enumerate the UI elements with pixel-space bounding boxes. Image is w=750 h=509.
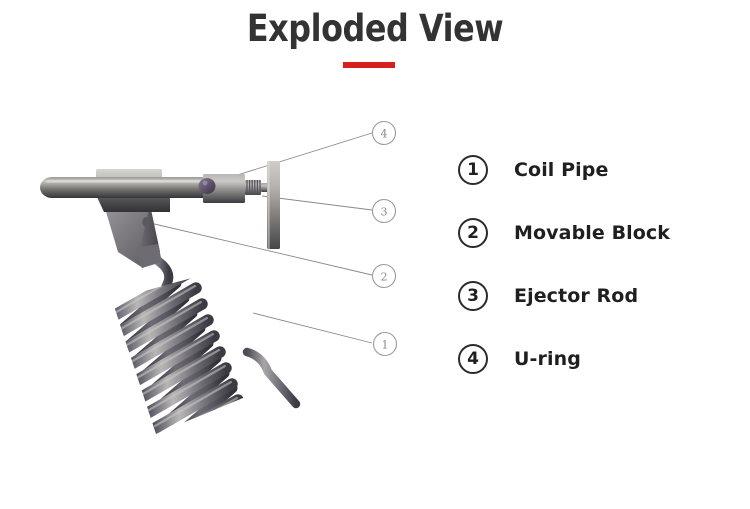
callout-marker-4[interactable]: 4	[373, 122, 396, 145]
legend-label-2: Movable Block	[514, 222, 670, 244]
callout-label-1: 1	[382, 339, 389, 352]
legend-number-4: 4	[458, 344, 488, 374]
callout-label-3: 3	[381, 206, 388, 219]
exploded-view-diagram: 4 3 2 1	[0, 0, 440, 509]
leader-line-2	[146, 222, 372, 275]
coil-pipe-part	[110, 246, 296, 462]
legend-item-coil-pipe[interactable]: 1 Coil Pipe	[458, 150, 738, 190]
movable-block-stud	[142, 217, 149, 227]
legend-label-1: Coil Pipe	[514, 159, 608, 181]
parts-legend: 1 Coil Pipe 2 Movable Block 3 Ejector Ro…	[458, 150, 738, 402]
coil-helix	[110, 270, 244, 462]
callout-marker-1[interactable]: 1	[374, 333, 397, 356]
ejector-rod-nose-highlight	[203, 181, 208, 186]
movable-block-part	[96, 195, 170, 268]
callout-marker-3[interactable]: 3	[373, 200, 396, 223]
callout-markers: 4 3 2 1	[373, 122, 397, 356]
leader-line-1	[253, 313, 372, 343]
exploded-view-page: Exploded View	[0, 0, 750, 509]
u-ring-part	[267, 161, 280, 249]
legend-number-2: 2	[458, 218, 488, 248]
callout-marker-2[interactable]: 2	[373, 265, 396, 288]
u-ring-highlight	[268, 161, 270, 249]
ejector-rod-part	[199, 174, 274, 203]
legend-item-ejector-rod[interactable]: 3 Ejector Rod	[458, 276, 738, 316]
legend-label-4: U-ring	[514, 348, 581, 370]
legend-item-movable-block[interactable]: 2 Movable Block	[458, 213, 738, 253]
callout-label-4: 4	[381, 128, 388, 141]
legend-number-1: 1	[458, 155, 488, 185]
main-rod-highlight	[46, 180, 206, 183]
ejector-rod-nose	[199, 178, 216, 194]
legend-number-3: 3	[458, 281, 488, 311]
callout-label-2: 2	[381, 271, 388, 284]
coil-lower-tangent	[247, 352, 296, 404]
main-rod-assembly	[40, 169, 212, 198]
legend-item-u-ring[interactable]: 4 U-ring	[458, 339, 738, 379]
legend-label-3: Ejector Rod	[514, 285, 638, 307]
